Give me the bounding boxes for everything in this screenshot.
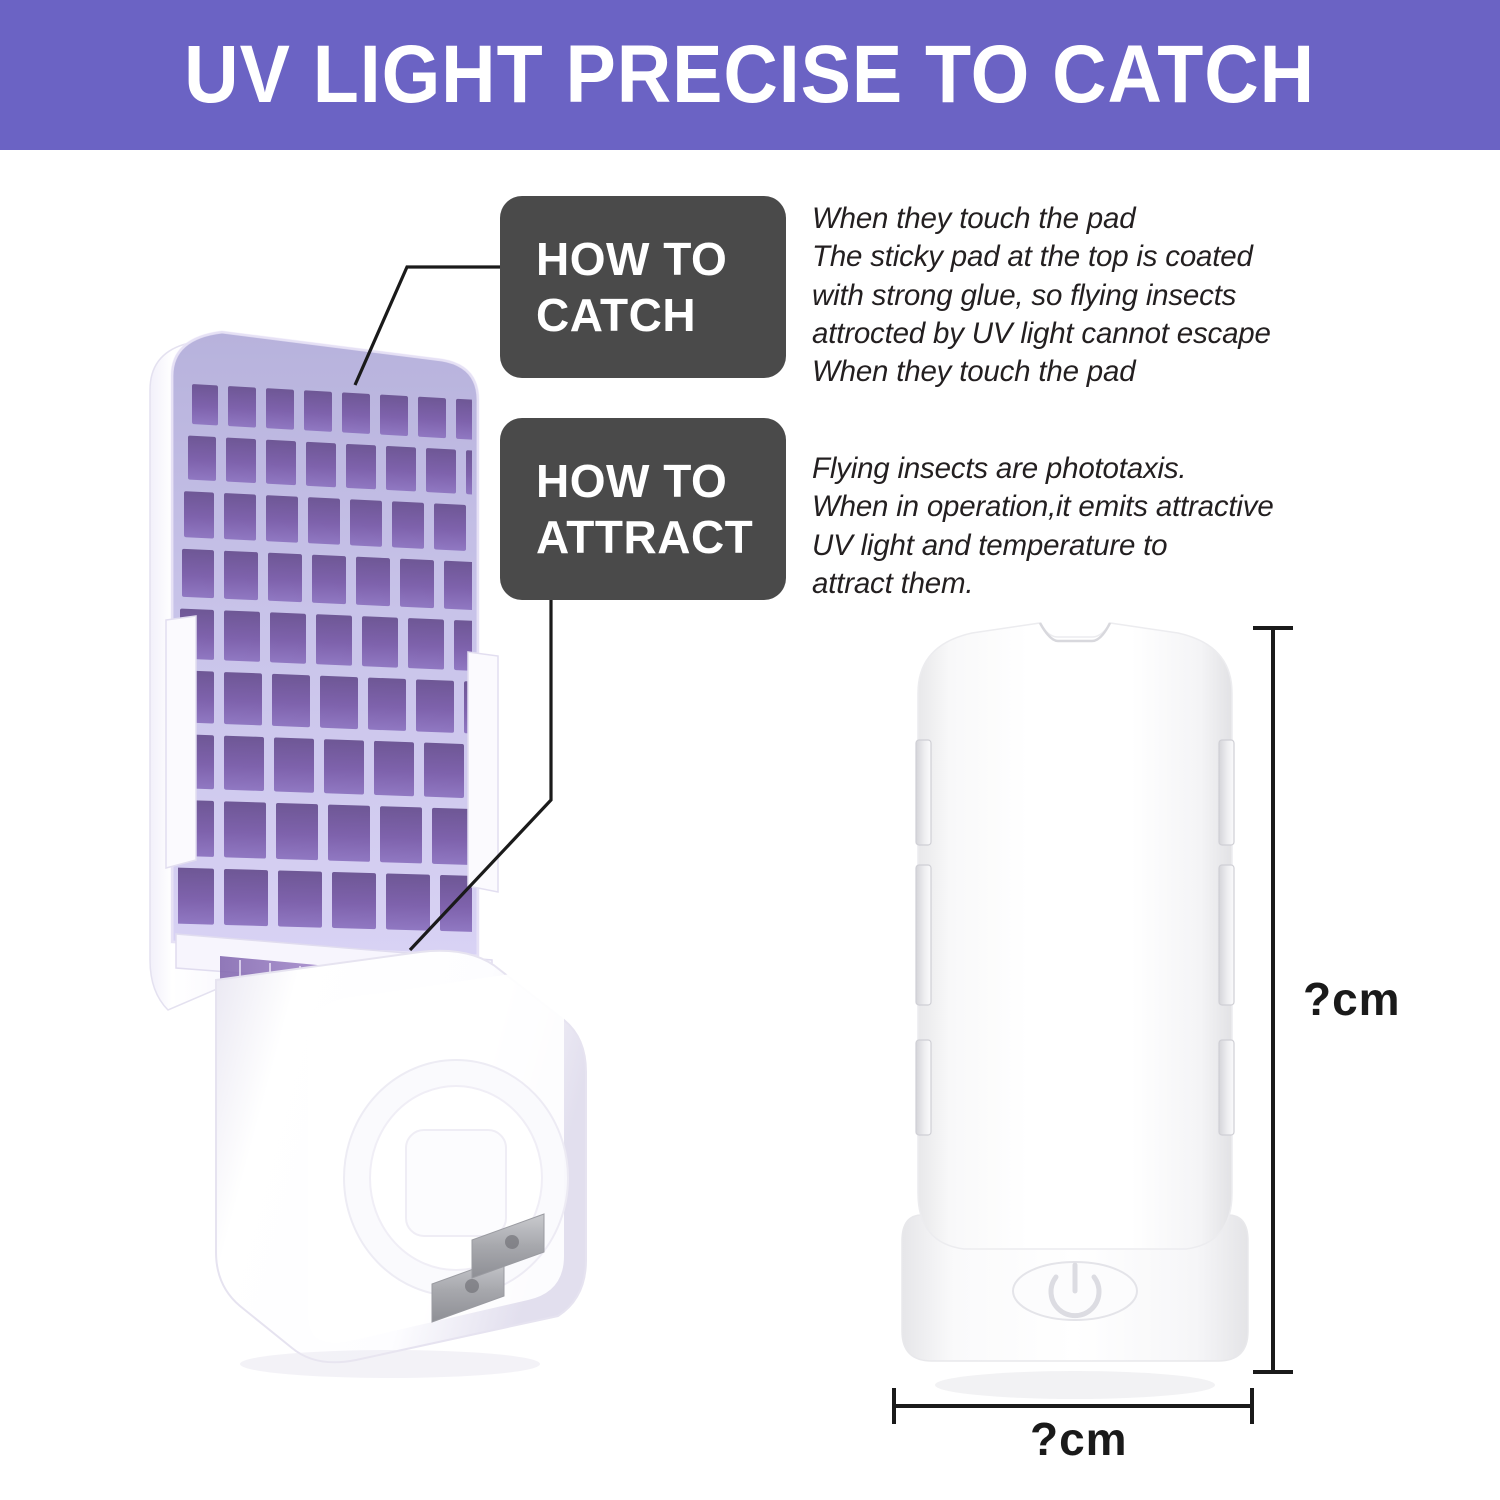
dimension-width-label: ?cm — [1030, 1412, 1128, 1466]
callout-box-how-to-attract[interactable]: HOW TO ATTRACT — [500, 418, 786, 600]
product-image-front-trap — [880, 615, 1270, 1405]
vent-slots-right — [1219, 740, 1234, 1135]
callout-body-how-to-catch: When they touch the pad The sticky pad a… — [812, 200, 1432, 392]
trap-front-shell — [918, 623, 1232, 1249]
vent-slots-left — [916, 740, 931, 1135]
dimension-height-label: ?cm — [1303, 972, 1401, 1026]
infographic-page: UV LIGHT PRECISE TO CATCH — [0, 0, 1500, 1500]
page-title: UV LIGHT PRECISE TO CATCH — [185, 34, 1316, 116]
callout-label-line2: CATCH — [536, 287, 786, 343]
callout-box-how-to-catch[interactable]: HOW TO CATCH — [500, 196, 786, 378]
sticky-pad-panel — [172, 332, 494, 956]
header-banner: UV LIGHT PRECISE TO CATCH — [0, 0, 1500, 150]
callout-label-line1: HOW TO — [536, 231, 786, 287]
callout-body-how-to-attract: Flying insects are phototaxis. When in o… — [812, 450, 1432, 603]
callout-label-line2: ATTRACT — [536, 509, 786, 565]
power-button[interactable] — [1013, 1262, 1137, 1320]
trap-base-housing — [216, 951, 586, 1362]
callout-label-line1: HOW TO — [536, 453, 786, 509]
